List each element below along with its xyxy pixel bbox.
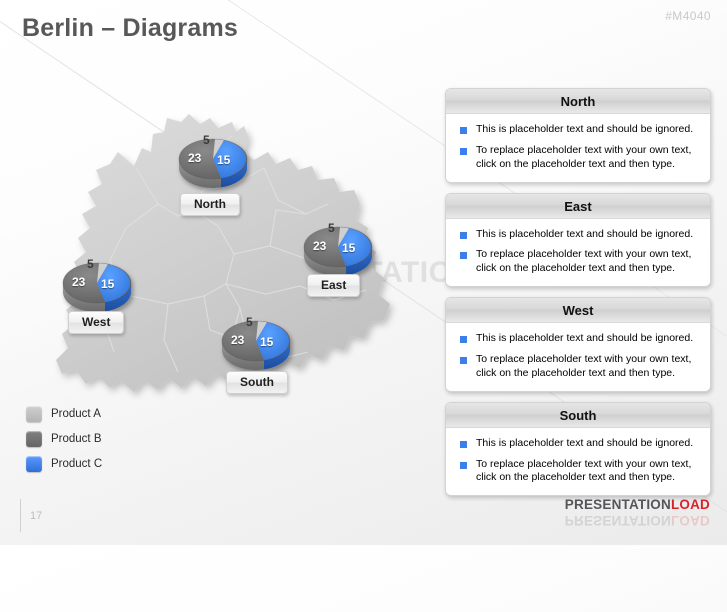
- list-item[interactable]: To replace placeholder text with your ow…: [455, 144, 700, 172]
- legend-label-product-b: Product B: [51, 433, 102, 445]
- bullet-square-icon: [460, 232, 467, 239]
- list-item[interactable]: This is placeholder text and should be i…: [455, 332, 700, 346]
- page-title: Berlin – Diagrams: [22, 14, 238, 43]
- panel-body-south: This is placeholder text and should be i…: [446, 428, 710, 496]
- page-number: 17: [30, 510, 42, 522]
- bullet-square-icon: [460, 127, 467, 134]
- pie-value-product-b: 23: [72, 275, 85, 289]
- panel-body-east: This is placeholder text and should be i…: [446, 219, 710, 287]
- bullet-square-icon: [460, 252, 467, 259]
- panel-body-west: This is placeholder text and should be i…: [446, 323, 710, 391]
- logo-text-presentation: PRESENTATION: [565, 497, 671, 512]
- map-label-south[interactable]: South: [226, 371, 288, 394]
- map-label-north[interactable]: North: [180, 193, 240, 216]
- presentationload-logo: PRESENTATIONLOAD PRESENTATIONLOAD: [565, 497, 710, 528]
- bullet-text: This is placeholder text and should be i…: [476, 437, 693, 451]
- bullet-text: This is placeholder text and should be i…: [476, 228, 693, 242]
- pie-value-product-b: 23: [313, 239, 326, 253]
- bullet-text: This is placeholder text and should be i…: [476, 332, 693, 346]
- legend-swatch-product-a: [26, 406, 42, 422]
- logo-reflection: PRESENTATIONLOAD: [565, 513, 710, 528]
- panel-title-west: West: [446, 298, 710, 323]
- list-item[interactable]: To replace placeholder text with your ow…: [455, 458, 700, 486]
- logo-reflection-presentation: PRESENTATION: [565, 513, 671, 528]
- legend-label-product-a: Product A: [51, 408, 101, 420]
- panel-south[interactable]: South This is placeholder text and shoul…: [445, 402, 711, 497]
- page-number-divider: [20, 499, 21, 532]
- bullet-square-icon: [460, 148, 467, 155]
- map-label-west[interactable]: West: [68, 311, 124, 334]
- legend-item-product-b[interactable]: Product B: [26, 431, 102, 447]
- bullet-square-icon: [460, 462, 467, 469]
- legend-label-product-c: Product C: [51, 458, 102, 470]
- bullet-square-icon: [460, 441, 467, 448]
- pie-value-product-c: 15: [342, 241, 355, 255]
- list-item[interactable]: This is placeholder text and should be i…: [455, 437, 700, 451]
- bullet-square-icon: [460, 357, 467, 364]
- bullet-text: To replace placeholder text with your ow…: [476, 248, 700, 276]
- bullet-text: This is placeholder text and should be i…: [476, 123, 693, 137]
- legend-swatch-product-b: [26, 431, 42, 447]
- map-label-east[interactable]: East: [307, 274, 360, 297]
- pie-value-product-a: 5: [328, 221, 335, 235]
- legend: Product A Product B Product C: [26, 406, 102, 481]
- template-code: #M4040: [665, 9, 711, 23]
- pie-value-product-b: 23: [231, 333, 244, 347]
- panel-title-north: North: [446, 89, 710, 114]
- panel-north[interactable]: North This is placeholder text and shoul…: [445, 88, 711, 183]
- bullet-text: To replace placeholder text with your ow…: [476, 144, 700, 172]
- bullet-square-icon: [460, 336, 467, 343]
- panel-body-north: This is placeholder text and should be i…: [446, 114, 710, 182]
- panel-west[interactable]: West This is placeholder text and should…: [445, 297, 711, 392]
- legend-item-product-c[interactable]: Product C: [26, 456, 102, 472]
- pie-value-product-a: 5: [246, 315, 253, 329]
- pie-value-product-c: 15: [217, 153, 230, 167]
- panel-title-east: East: [446, 194, 710, 219]
- list-item[interactable]: This is placeholder text and should be i…: [455, 123, 700, 137]
- pie-value-product-a: 5: [203, 133, 210, 147]
- list-item[interactable]: To replace placeholder text with your ow…: [455, 248, 700, 276]
- panel-east[interactable]: East This is placeholder text and should…: [445, 193, 711, 288]
- list-item[interactable]: To replace placeholder text with your ow…: [455, 353, 700, 381]
- legend-item-product-a[interactable]: Product A: [26, 406, 102, 422]
- logo-text-load: LOAD: [671, 497, 710, 512]
- pie-value-product-c: 15: [101, 277, 114, 291]
- pie-value-product-b: 23: [188, 151, 201, 165]
- bullet-text: To replace placeholder text with your ow…: [476, 458, 700, 486]
- legend-swatch-product-c: [26, 456, 42, 472]
- pie-value-product-c: 15: [260, 335, 273, 349]
- list-item[interactable]: This is placeholder text and should be i…: [455, 228, 700, 242]
- bullet-text: To replace placeholder text with your ow…: [476, 353, 700, 381]
- pie-chart-north[interactable]: 5 23 15: [174, 137, 252, 199]
- logo-reflection-load: LOAD: [671, 513, 710, 528]
- pie-value-product-a: 5: [87, 257, 94, 271]
- region-panels: North This is placeholder text and shoul…: [445, 88, 711, 506]
- panel-title-south: South: [446, 403, 710, 428]
